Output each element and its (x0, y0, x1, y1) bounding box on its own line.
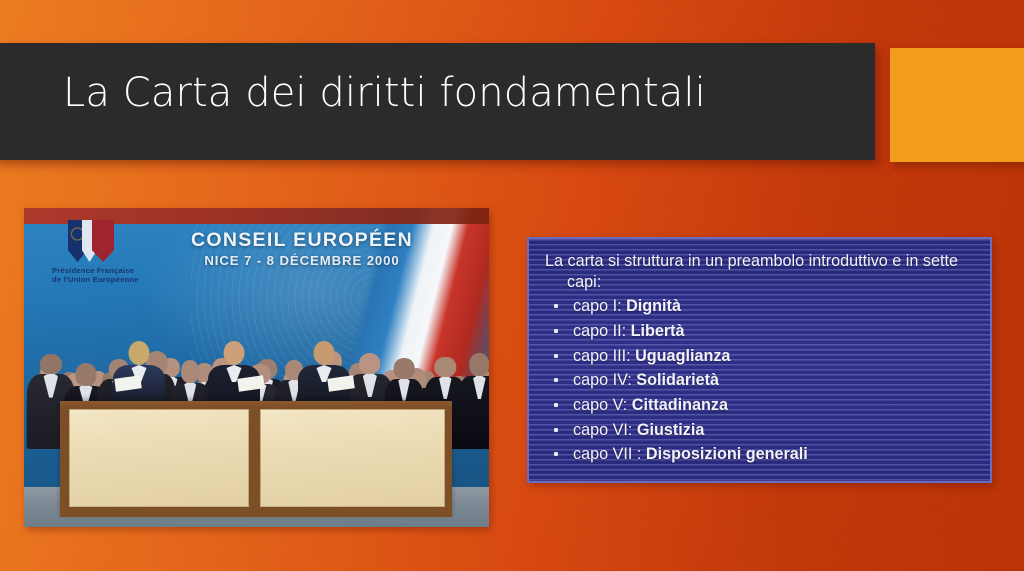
chapter-name: Dignità (626, 297, 681, 315)
list-item: capo III: Uguaglianza (545, 344, 976, 369)
chapter-prefix: capo II: (573, 322, 631, 340)
seated-signatories (24, 337, 489, 411)
chapter-prefix: capo VII : (573, 445, 646, 463)
chapter-name: Cittadinanza (632, 396, 728, 414)
bullet-icon (554, 304, 558, 308)
list-item: capo II: Libertà (545, 319, 976, 344)
accent-block (890, 48, 1024, 162)
chapter-name: Giustizia (637, 421, 704, 439)
list-item: capo VII : Disposizioni generali (545, 442, 976, 467)
bullet-icon (554, 329, 558, 333)
list-item: capo I: Dignità (545, 294, 976, 319)
chapter-name: Solidarietà (636, 371, 719, 389)
chapter-prefix: capo I: (573, 297, 626, 315)
list-item: capo VI: Giustizia (545, 418, 976, 443)
bullet-icon (554, 378, 558, 382)
list-item: capo V: Cittadinanza (545, 393, 976, 418)
list-item: capo IV: Solidarietà (545, 368, 976, 393)
bullet-icon (554, 354, 558, 358)
chapter-prefix: capo VI: (573, 421, 637, 439)
banner-headline: CONSEIL EUROPÉEN (152, 229, 452, 252)
chapters-list: capo I: Dignitàcapo II: Libertàcapo III:… (545, 294, 976, 467)
chapter-prefix: capo IV: (573, 371, 636, 389)
page-title: La Carta dei diritti fondamentali (63, 73, 706, 113)
logo-line-2: de l'Union Européenne (52, 275, 139, 284)
signing-table (60, 401, 452, 517)
content-textbox: La carta si struttura in un preambolo in… (527, 237, 992, 483)
chapter-prefix: capo V: (573, 396, 632, 414)
title-bar: La Carta dei diritti fondamentali (0, 43, 875, 160)
chapter-name: Disposizioni generali (646, 445, 808, 463)
presentation-slide: La Carta dei diritti fondamentali Présid… (0, 0, 1024, 571)
logo-line-1: Présidence Française (52, 266, 134, 275)
conference-photo: Présidence Française de l'Union Européen… (24, 208, 489, 527)
bullet-icon (554, 452, 558, 456)
bullet-icon (554, 403, 558, 407)
intro-text: La carta si struttura in un preambolo in… (545, 251, 976, 292)
table-panel-right (260, 409, 445, 507)
bullet-icon (554, 428, 558, 432)
shield-icon (68, 220, 114, 262)
table-panel-left (69, 409, 249, 507)
chapter-name: Uguaglianza (635, 347, 730, 365)
chapter-prefix: capo III: (573, 347, 635, 365)
chapter-name: Libertà (631, 322, 685, 340)
banner-subline: NICE 7 - 8 DÉCEMBRE 2000 (152, 253, 452, 268)
